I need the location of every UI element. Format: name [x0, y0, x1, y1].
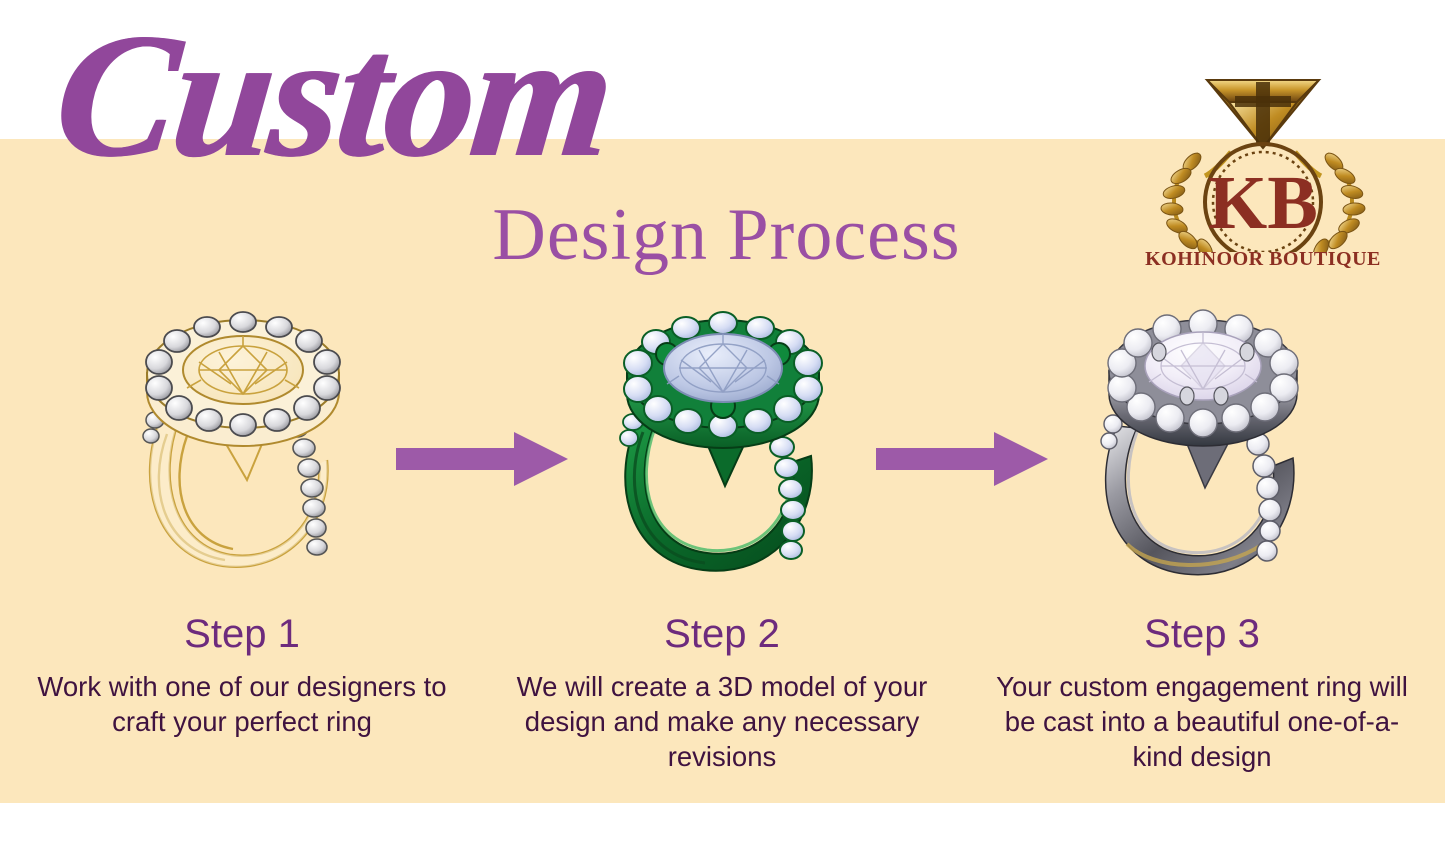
infographic-page: Custom Design Process	[0, 0, 1445, 849]
step-2-title: Step 2	[482, 612, 962, 657]
prong	[1180, 387, 1194, 405]
brand-logo: KB KOHINOOR BOUTIQUE	[1143, 52, 1383, 284]
diamond-icon	[1207, 80, 1319, 148]
step-column-1: Step 1 Work with one of our designers to…	[2, 300, 482, 810]
logo-mark-graphic: KB	[1143, 52, 1383, 252]
prong	[1214, 387, 1228, 405]
step-column-3: Step 3 Your custom engagement ring will …	[962, 300, 1442, 810]
prong	[1240, 343, 1254, 361]
brand-name: KOHINOOR BOUTIQUE	[1143, 248, 1383, 271]
step-column-2: Step 2 We will create a 3D model of your…	[482, 300, 962, 810]
logo-monogram-kb: KB	[1208, 161, 1318, 245]
step-1-body: Work with one of our designers to craft …	[22, 670, 462, 740]
arrow-step2-to-step3-icon	[872, 428, 1052, 490]
step-2-body: We will create a 3D model of your design…	[502, 670, 942, 775]
ring-cad-model-icon	[607, 310, 837, 580]
step-3-body: Your custom engagement ring will be cast…	[982, 670, 1422, 775]
page-title-script: Custom	[49, 6, 620, 184]
arrow-step1-to-step2-icon	[392, 428, 572, 490]
steps-row: Step 1 Work with one of our designers to…	[0, 300, 1445, 810]
ring-sketch-icon	[127, 310, 357, 580]
step-3-title: Step 3	[962, 612, 1442, 657]
ring-photo-icon	[1087, 308, 1317, 583]
prong	[1152, 343, 1166, 361]
step-1-title: Step 1	[2, 612, 482, 657]
